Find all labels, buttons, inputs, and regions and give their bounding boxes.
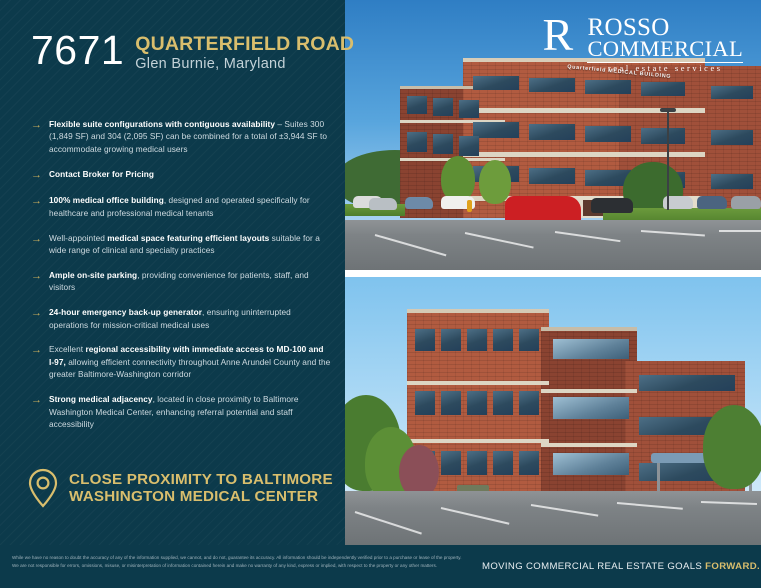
facade-band	[407, 381, 549, 385]
arrow-bullet-icon: →	[31, 269, 49, 294]
stall-line	[701, 501, 757, 505]
window	[585, 126, 631, 142]
info-panel: 7671 QUARTERFIELD ROAD Glen Burnie, Mary…	[0, 0, 345, 588]
feature-text: 100% medical office building, designed a…	[49, 194, 331, 219]
tree	[703, 405, 761, 489]
parked-car	[369, 198, 397, 210]
feature-text-emphasis: Flexible suite configurations with conti…	[49, 119, 275, 129]
disclaimer-text: While we have no reason to doubt the acc…	[12, 554, 462, 569]
facade-band	[541, 443, 637, 447]
feature-text-emphasis: Ample on-site parking	[49, 270, 137, 280]
parked-car	[405, 197, 433, 209]
light-fixture	[660, 108, 676, 112]
tree	[479, 160, 511, 204]
window	[459, 100, 479, 118]
feature-text-lead: Excellent	[49, 344, 85, 354]
feature-item: →Contact Broker for Pricing	[31, 168, 331, 182]
logo-wordmark: ROSSO COMMERCIAL real estate services	[587, 14, 743, 73]
window-ribbon	[553, 453, 629, 475]
stall-line	[441, 507, 510, 525]
company-logo: R ROSSO COMMERCIAL real estate services	[542, 14, 743, 73]
feature-item: →Ample on-site parking, providing conven…	[31, 269, 331, 294]
stall-line	[555, 231, 621, 242]
feature-item: →Excellent regional accessibility with i…	[31, 343, 331, 380]
feature-item: →Strong medical adjacency, located in cl…	[31, 393, 331, 430]
callout-line-1: CLOSE PROXIMITY TO BALTIMORE	[69, 471, 333, 489]
window	[467, 451, 487, 475]
window	[519, 451, 539, 475]
window	[585, 80, 631, 94]
feature-text-lead: Well-appointed	[49, 233, 107, 243]
window	[467, 391, 487, 415]
window	[493, 451, 513, 475]
feature-list: →Flexible suite configurations with cont…	[31, 118, 331, 443]
company-tagline: MOVING COMMERCIAL REAL ESTATE GOALS FORW…	[482, 561, 760, 572]
parapet	[407, 309, 549, 313]
exterior-corner-photo	[345, 277, 761, 545]
window	[711, 86, 753, 99]
logo-line-2: COMMERCIAL	[587, 39, 743, 60]
street-name: QUARTERFIELD ROAD	[135, 34, 354, 54]
feature-text-emphasis: 24-hour emergency back-up generator	[49, 307, 202, 317]
window-ribbon	[553, 397, 629, 419]
feature-item: →24-hour emergency back-up generator, en…	[31, 306, 331, 331]
fire-hydrant	[467, 200, 472, 212]
window	[433, 134, 453, 154]
light-pole	[667, 110, 669, 210]
feature-item: →Well-appointed medical space featuring …	[31, 232, 331, 257]
street-number: 7671	[31, 30, 124, 71]
feature-text: 24-hour emergency back-up generator, ens…	[49, 306, 331, 331]
window-ribbon	[639, 375, 735, 391]
feature-item: →Flexible suite configurations with cont…	[31, 118, 331, 155]
logo-subtitle: real estate services	[587, 64, 743, 73]
logo-divider	[587, 62, 743, 63]
parapet	[541, 327, 637, 331]
callout-line-2: WASHINGTON MEDICAL CENTER	[69, 488, 333, 506]
feature-text-body: allowing efficient connectivity througho…	[49, 357, 330, 379]
window	[711, 130, 753, 145]
window	[519, 329, 539, 351]
window	[459, 136, 479, 156]
window	[407, 96, 427, 114]
window	[641, 128, 685, 144]
stall-line	[531, 504, 598, 517]
window	[407, 132, 427, 152]
arrow-bullet-icon: →	[31, 393, 49, 430]
feature-text: Well-appointed medical space featuring e…	[49, 232, 331, 257]
arrow-bullet-icon: →	[31, 194, 49, 219]
feature-text-emphasis: Strong medical adjacency	[49, 394, 153, 404]
window	[519, 391, 539, 415]
map-pin-icon	[26, 467, 60, 509]
feature-text: Ample on-site parking, providing conveni…	[49, 269, 331, 294]
parked-car	[731, 196, 761, 209]
window	[493, 329, 513, 351]
window	[529, 168, 575, 184]
feature-text-emphasis: medical space featuring efficient layout…	[107, 233, 269, 243]
feature-item: →100% medical office building, designed …	[31, 194, 331, 219]
tagline-accent: FORWARD.	[705, 561, 760, 572]
stall-line	[719, 230, 761, 232]
facade-band	[407, 439, 549, 443]
callout-text: CLOSE PROXIMITY TO BALTIMORE WASHINGTON …	[69, 471, 333, 506]
feature-text: Strong medical adjacency, located in clo…	[49, 393, 331, 430]
arrow-bullet-icon: →	[31, 343, 49, 380]
parking-lot	[345, 220, 761, 270]
window	[473, 122, 519, 138]
parking-lot	[345, 491, 761, 545]
proximity-callout: CLOSE PROXIMITY TO BALTIMORE WASHINGTON …	[26, 467, 333, 509]
window	[441, 329, 461, 351]
flyer-page: Quarterfield MEDICAL BUILDING	[0, 0, 761, 588]
feature-text: Flexible suite configurations with conti…	[49, 118, 331, 155]
window	[433, 98, 453, 116]
window	[529, 124, 575, 140]
stall-line	[641, 230, 705, 236]
photo-column: Quarterfield MEDICAL BUILDING	[345, 0, 761, 545]
window	[641, 82, 685, 96]
window	[467, 329, 487, 351]
rosso-r-mark-icon: R	[542, 14, 580, 58]
parked-car	[697, 196, 727, 209]
window	[711, 174, 753, 189]
window	[529, 78, 575, 92]
feature-text: Contact Broker for Pricing	[49, 168, 154, 182]
logo-mark-letter: R	[542, 12, 573, 58]
arrow-bullet-icon: →	[31, 232, 49, 257]
page-title: 7671 QUARTERFIELD ROAD Glen Burnie, Mary…	[31, 30, 331, 72]
window	[473, 76, 519, 90]
stall-line	[375, 234, 447, 256]
city-state: Glen Burnie, Maryland	[135, 56, 354, 72]
feature-text-emphasis: 100% medical office building	[49, 195, 164, 205]
facade-band	[541, 389, 637, 393]
page-footer: While we have no reason to doubt the acc…	[0, 545, 761, 588]
window	[493, 391, 513, 415]
arrow-bullet-icon: →	[31, 306, 49, 331]
window	[415, 391, 435, 415]
arrow-bullet-icon: →	[31, 168, 49, 182]
parked-car	[591, 198, 633, 213]
stall-line	[465, 232, 534, 249]
window	[441, 451, 461, 475]
window-ribbon	[553, 339, 629, 359]
arrow-bullet-icon: →	[31, 118, 49, 155]
stall-line	[355, 511, 422, 535]
window	[415, 329, 435, 351]
photo-divider	[345, 270, 761, 277]
feature-text: Excellent regional accessibility with im…	[49, 343, 331, 380]
tagline-plain: MOVING COMMERCIAL REAL ESTATE GOALS	[482, 561, 705, 572]
stall-line	[617, 502, 683, 510]
window	[441, 391, 461, 415]
feature-text-emphasis: Contact Broker for Pricing	[49, 169, 154, 179]
